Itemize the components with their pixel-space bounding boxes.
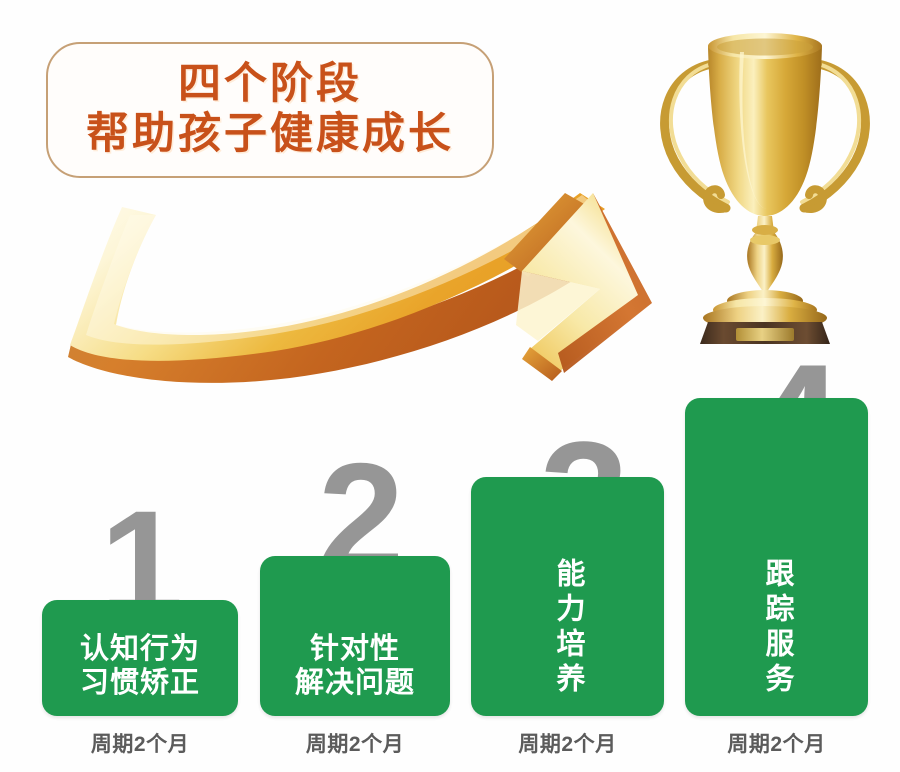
title-line-2: 帮助孩子健康成长 (86, 113, 454, 157)
gold-trophy-icon (640, 18, 890, 348)
title-box: 四个阶段 帮助孩子健康成长 (46, 42, 494, 178)
infographic-canvas: 四个阶段 帮助孩子健康成长 (0, 0, 900, 772)
gold-swoosh-arrow-icon (60, 185, 720, 390)
stage-caption-1: 周期2个月 (42, 728, 238, 758)
title-line-1: 四个阶段 (178, 63, 362, 107)
stage-bar-2[interactable]: 针对性 解决问题 (260, 556, 450, 716)
stage-bar-1[interactable]: 认知行为 习惯矫正 (42, 600, 238, 716)
stage-caption-3: 周期2个月 (471, 728, 664, 758)
stage-caption-4: 周期2个月 (685, 728, 868, 758)
stage-bar-4[interactable]: 跟踪服务 (685, 398, 868, 716)
stage-bar-3[interactable]: 能力培养 (471, 477, 664, 716)
stage-bar-3-label: 能力培养 (553, 558, 582, 716)
stage-caption-2: 周期2个月 (260, 728, 450, 758)
stage-bar-1-label: 认知行为 习惯矫正 (80, 632, 200, 716)
stage-bar-2-label: 针对性 解决问题 (295, 632, 415, 716)
stage-bar-4-label: 跟踪服务 (762, 558, 791, 716)
